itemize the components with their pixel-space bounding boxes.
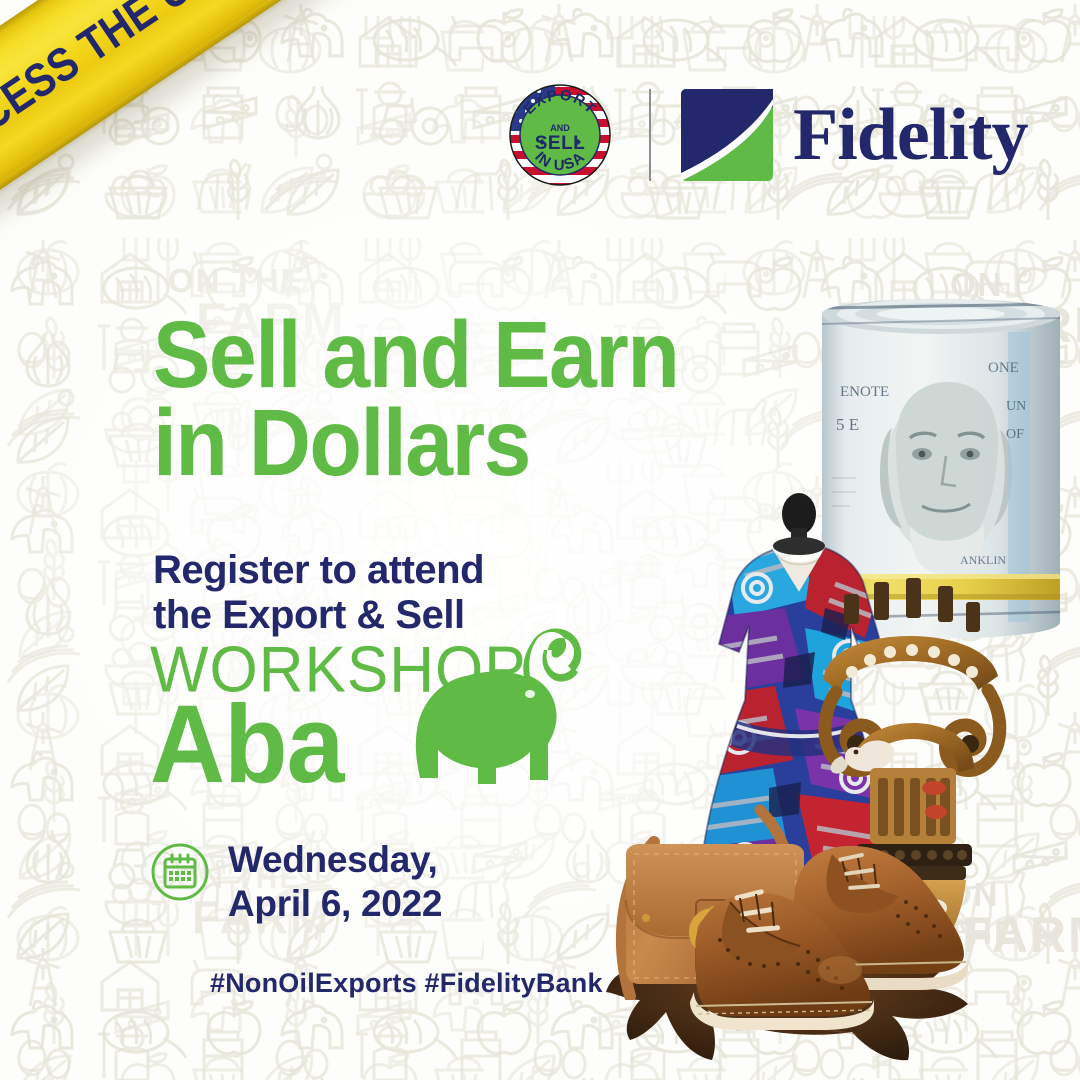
page-headline: Sell and Earn in Dollars: [153, 312, 713, 488]
date-line-1: Wednesday,: [228, 838, 442, 882]
hashtags: #NonOilExports #FidelityBank: [210, 968, 603, 999]
logo-row: EXPORT AND SELL IN USA: [505, 72, 1025, 198]
headline-line-2: in Dollars: [153, 400, 713, 488]
svg-text:OF: OF: [1006, 427, 1024, 442]
logo-divider: [649, 89, 651, 181]
page-subheadline: Register to attend the Export & Sell: [153, 548, 583, 638]
leather-brogue-shoes: [690, 830, 990, 1030]
elephant-icon: [404, 628, 584, 790]
export-and-sell-in-usa-badge-icon: EXPORT AND SELL IN USA: [505, 79, 615, 191]
headline-line-1: Sell and Earn: [153, 312, 713, 400]
subhead-line-1: Register to attend: [153, 548, 583, 593]
fidelity-bank-logo: Fidelity: [679, 87, 1028, 183]
fidelity-wordmark: Fidelity: [793, 98, 1028, 172]
svg-text:AND: AND: [550, 123, 570, 133]
svg-text:UN: UN: [1006, 399, 1026, 414]
event-city-label: Aba: [150, 690, 343, 800]
event-date-block: Wednesday, April 6, 2022: [150, 838, 442, 925]
date-line-2: April 6, 2022: [228, 882, 442, 926]
svg-text:ENOTE: ENOTE: [840, 384, 889, 400]
fidelity-mark-icon: [679, 87, 775, 183]
event-date-text: Wednesday, April 6, 2022: [228, 838, 442, 925]
svg-text:5 E: 5 E: [836, 415, 859, 434]
calendar-icon: [150, 842, 210, 902]
svg-text:ANKLIN: ANKLIN: [960, 553, 1006, 567]
promo-poster: ON THE FARM ON THE FARM ON THE FARM ON T…: [0, 0, 1080, 1080]
svg-text:ONE: ONE: [988, 360, 1019, 376]
